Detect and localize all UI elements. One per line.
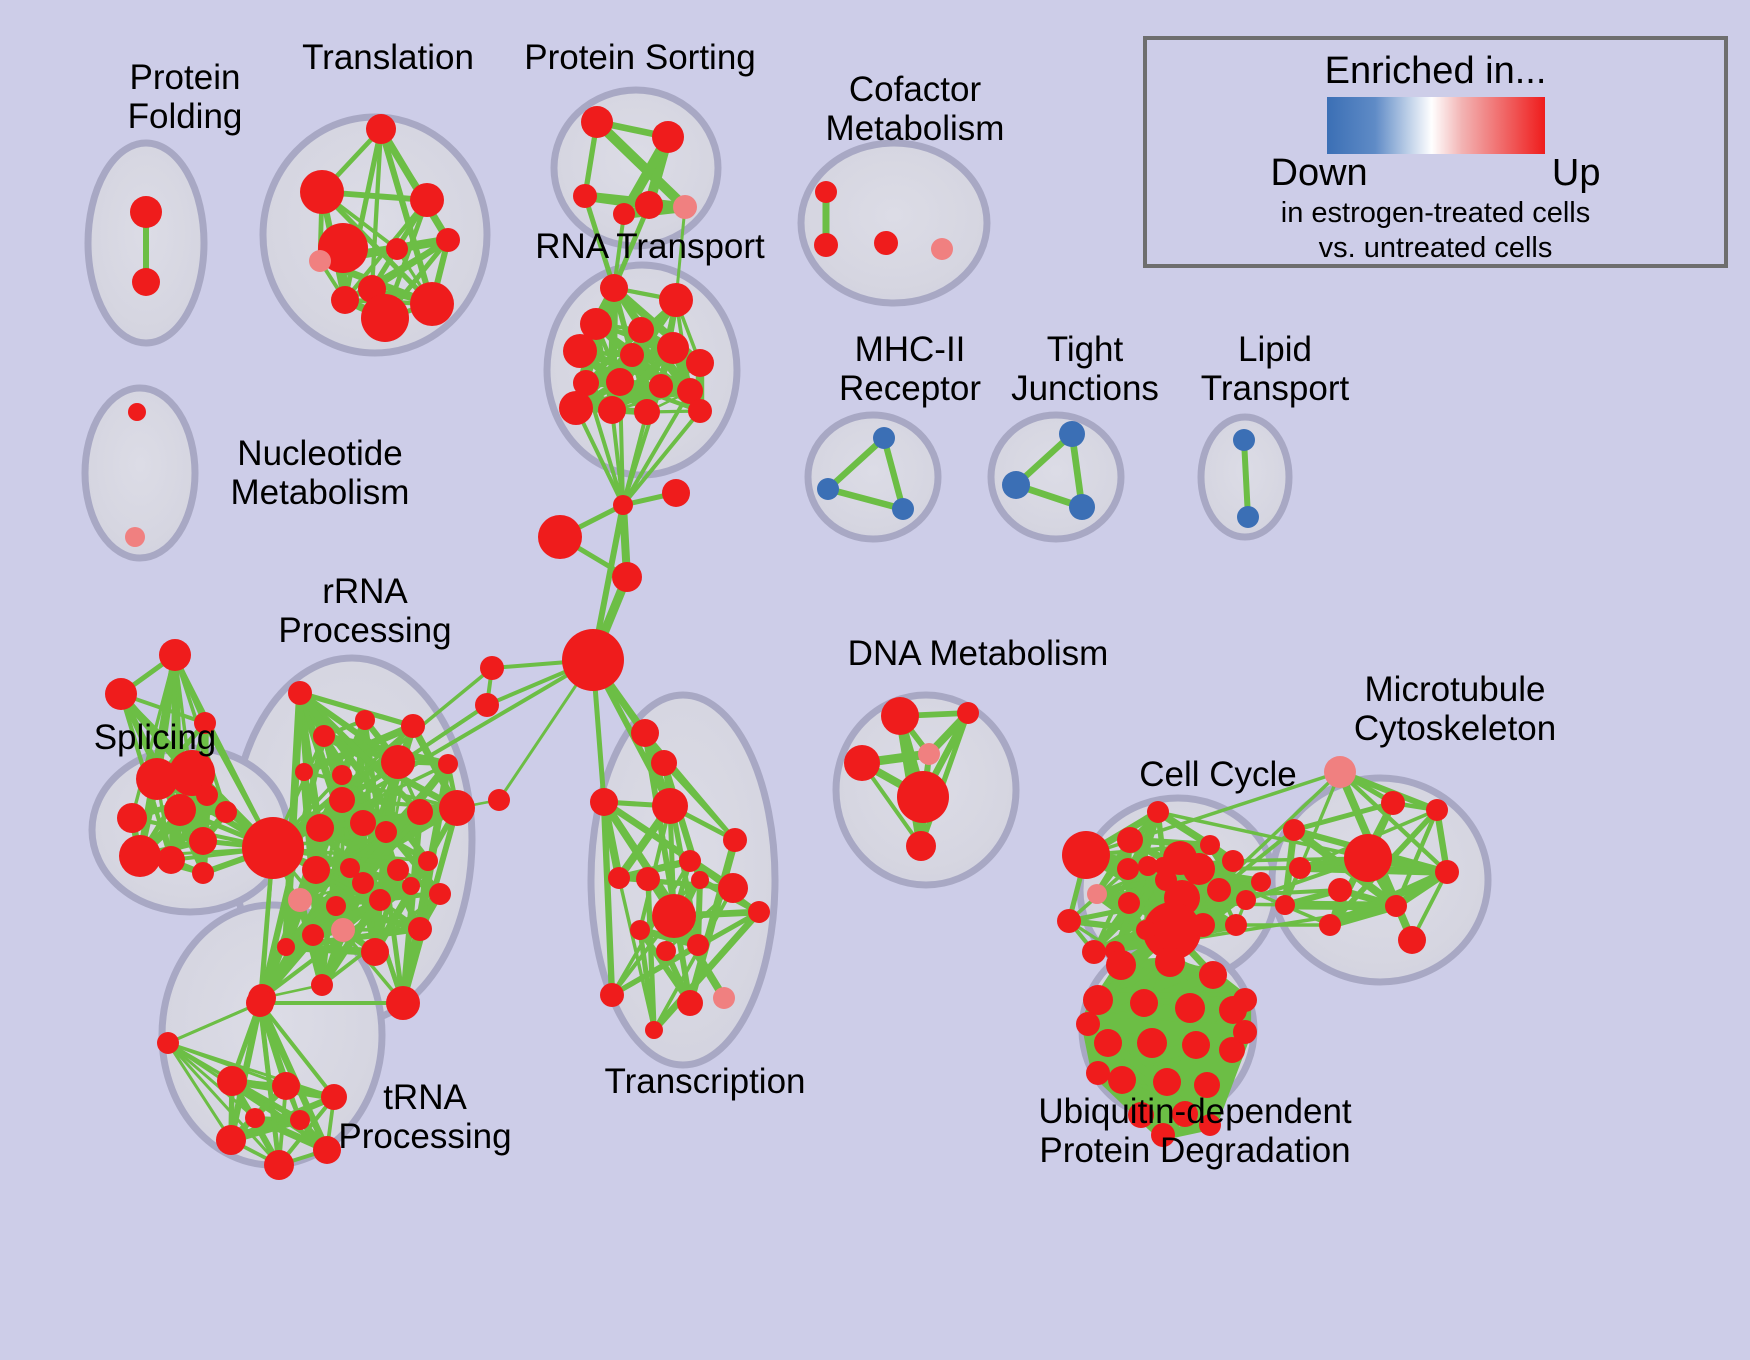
network-node[interactable] xyxy=(366,114,396,144)
network-node[interactable] xyxy=(119,835,161,877)
network-node[interactable] xyxy=(1199,961,1227,989)
network-node[interactable] xyxy=(1094,1029,1122,1057)
network-node[interactable] xyxy=(1275,895,1295,915)
network-node[interactable] xyxy=(194,712,216,734)
legend-caption-line1: in estrogen-treated cells xyxy=(1281,197,1591,229)
network-node[interactable] xyxy=(713,987,735,1009)
cluster-ellipse-protein-sorting xyxy=(554,90,718,246)
network-node[interactable] xyxy=(1128,1102,1154,1128)
network-node[interactable] xyxy=(1087,884,1107,904)
network-node[interactable] xyxy=(652,894,696,938)
network-node[interactable] xyxy=(125,527,145,547)
network-node[interactable] xyxy=(130,196,162,228)
network-node[interactable] xyxy=(649,374,673,398)
network-node[interactable] xyxy=(957,702,979,724)
network-node[interactable] xyxy=(600,983,624,1007)
network-node[interactable] xyxy=(326,896,346,916)
network-node[interactable] xyxy=(918,743,940,765)
legend-title: Enriched in... xyxy=(1325,50,1547,93)
network-node[interactable] xyxy=(1385,895,1407,917)
network-node[interactable] xyxy=(1069,494,1095,520)
network-node[interactable] xyxy=(1398,926,1426,954)
network-node[interactable] xyxy=(309,250,331,272)
network-node[interactable] xyxy=(1233,988,1257,1012)
network-node[interactable] xyxy=(636,867,660,891)
network-node[interactable] xyxy=(429,883,451,905)
network-node[interactable] xyxy=(306,814,334,842)
network-node[interactable] xyxy=(1130,989,1158,1017)
network-node[interactable] xyxy=(242,817,304,879)
network-node[interactable] xyxy=(630,920,650,940)
network-node[interactable] xyxy=(686,349,714,377)
network-node[interactable] xyxy=(300,170,344,214)
network-node[interactable] xyxy=(1236,890,1256,910)
network-node[interactable] xyxy=(381,745,415,779)
network-node[interactable] xyxy=(1183,853,1215,885)
network-node[interactable] xyxy=(906,831,936,861)
network-node[interactable] xyxy=(897,771,949,823)
network-node[interactable] xyxy=(656,941,676,961)
network-node[interactable] xyxy=(562,629,624,691)
network-node[interactable] xyxy=(815,181,837,203)
network-node[interactable] xyxy=(1076,1012,1100,1036)
network-node[interactable] xyxy=(277,938,295,956)
network-node[interactable] xyxy=(302,924,324,946)
network-node[interactable] xyxy=(105,678,137,710)
network-node[interactable] xyxy=(688,399,712,423)
network-node[interactable] xyxy=(892,498,914,520)
cluster-ellipse-mhc-ii-receptor xyxy=(808,415,938,539)
network-node[interactable] xyxy=(563,334,597,368)
network-node[interactable] xyxy=(613,495,633,515)
network-node[interactable] xyxy=(628,317,654,343)
network-node[interactable] xyxy=(645,1021,663,1039)
network-node[interactable] xyxy=(931,238,953,260)
network-node[interactable] xyxy=(475,693,499,717)
network-node[interactable] xyxy=(418,851,438,871)
network-node[interactable] xyxy=(679,850,701,872)
network-figure: Protein FoldingTranslationProtein Sortin… xyxy=(0,0,1750,1360)
network-node[interactable] xyxy=(436,228,460,252)
network-node[interactable] xyxy=(598,396,626,424)
network-node[interactable] xyxy=(1002,471,1030,499)
network-node[interactable] xyxy=(1108,1066,1136,1094)
network-node[interactable] xyxy=(439,790,475,826)
network-node[interactable] xyxy=(873,427,895,449)
edge xyxy=(1244,440,1248,517)
network-node[interactable] xyxy=(288,888,312,912)
network-node[interactable] xyxy=(1057,909,1081,933)
legend-caption-line2: vs. untreated cells xyxy=(1319,232,1553,264)
network-node[interactable] xyxy=(361,294,409,342)
network-node[interactable] xyxy=(817,478,839,500)
network-node[interactable] xyxy=(652,788,688,824)
network-node[interactable] xyxy=(1118,892,1140,914)
network-node[interactable] xyxy=(1237,506,1259,528)
legend-high-label: Up xyxy=(1552,152,1601,195)
legend-low-label: Down xyxy=(1271,152,1368,195)
network-node[interactable] xyxy=(635,191,663,219)
network-node[interactable] xyxy=(164,794,196,826)
network-node[interactable] xyxy=(313,725,335,747)
network-node[interactable] xyxy=(1381,791,1405,815)
network-node[interactable] xyxy=(329,787,355,813)
network-node[interactable] xyxy=(402,877,420,895)
network-node[interactable] xyxy=(401,714,425,738)
network-node[interactable] xyxy=(634,399,660,425)
network-node[interactable] xyxy=(673,195,697,219)
network-node[interactable] xyxy=(723,828,747,852)
network-node[interactable] xyxy=(1191,913,1215,937)
network-node[interactable] xyxy=(157,846,185,874)
network-node[interactable] xyxy=(246,989,274,1017)
network-node[interactable] xyxy=(657,332,689,364)
network-node[interactable] xyxy=(659,283,693,317)
network-node[interactable] xyxy=(488,789,510,811)
network-node[interactable] xyxy=(1199,1114,1221,1136)
network-node[interactable] xyxy=(612,562,642,592)
network-node[interactable] xyxy=(216,1125,246,1155)
network-node[interactable] xyxy=(606,368,634,396)
network-node[interactable] xyxy=(651,750,677,776)
network-node[interactable] xyxy=(652,121,684,153)
network-node[interactable] xyxy=(1233,1020,1257,1044)
network-node[interactable] xyxy=(159,639,191,671)
network-node[interactable] xyxy=(340,858,360,878)
network-node[interactable] xyxy=(1324,756,1356,788)
network-node[interactable] xyxy=(410,183,444,217)
network-node[interactable] xyxy=(620,343,644,367)
network-node[interactable] xyxy=(375,821,397,843)
network-node[interactable] xyxy=(1153,1068,1181,1096)
network-node[interactable] xyxy=(608,867,630,889)
network-node[interactable] xyxy=(814,233,838,257)
network-node[interactable] xyxy=(1138,856,1158,876)
network-node[interactable] xyxy=(410,282,454,326)
network-node[interactable] xyxy=(128,403,146,421)
network-node[interactable] xyxy=(408,917,432,941)
network-node[interactable] xyxy=(1086,1061,1110,1085)
network-node[interactable] xyxy=(272,1072,300,1100)
network-node[interactable] xyxy=(1233,429,1255,451)
network-node[interactable] xyxy=(1251,872,1271,892)
legend-gradient-bar xyxy=(1327,97,1545,154)
network-node[interactable] xyxy=(369,889,391,911)
network-node[interactable] xyxy=(350,810,376,836)
network-node[interactable] xyxy=(1225,914,1247,936)
network-node[interactable] xyxy=(196,784,218,806)
network-node[interactable] xyxy=(217,1066,247,1096)
network-node[interactable] xyxy=(1194,1072,1220,1098)
network-node[interactable] xyxy=(288,681,312,705)
network-node[interactable] xyxy=(590,788,618,816)
network-node[interactable] xyxy=(559,391,593,425)
network-node[interactable] xyxy=(1059,421,1085,447)
network-node[interactable] xyxy=(1082,940,1106,964)
network-node[interactable] xyxy=(1426,799,1448,821)
network-node[interactable] xyxy=(189,827,217,855)
network-node[interactable] xyxy=(677,990,703,1016)
network-node[interactable] xyxy=(1283,819,1305,841)
network-node[interactable] xyxy=(1289,857,1311,879)
network-node[interactable] xyxy=(631,719,659,747)
network-node[interactable] xyxy=(1147,801,1169,823)
network-node[interactable] xyxy=(573,184,597,208)
network-node[interactable] xyxy=(117,803,147,833)
network-node[interactable] xyxy=(386,238,408,260)
network-node[interactable] xyxy=(480,656,504,680)
network-node[interactable] xyxy=(1328,878,1352,902)
network-node[interactable] xyxy=(1083,985,1113,1015)
network-node[interactable] xyxy=(691,871,709,889)
network-node[interactable] xyxy=(1136,920,1156,940)
network-node[interactable] xyxy=(1117,827,1143,853)
network-node[interactable] xyxy=(662,479,690,507)
network-node[interactable] xyxy=(302,856,330,884)
network-node[interactable] xyxy=(1200,835,1220,855)
network-node[interactable] xyxy=(311,974,333,996)
network-node[interactable] xyxy=(538,515,582,559)
network-node[interactable] xyxy=(874,231,898,255)
network-node[interactable] xyxy=(295,763,313,781)
network-node[interactable] xyxy=(361,938,389,966)
network-node[interactable] xyxy=(687,934,709,956)
network-node[interactable] xyxy=(1344,834,1392,882)
network-node[interactable] xyxy=(1222,850,1244,872)
network-node[interactable] xyxy=(332,765,352,785)
network-node[interactable] xyxy=(1151,1123,1175,1147)
network-node[interactable] xyxy=(881,697,919,735)
network-node[interactable] xyxy=(1117,858,1139,880)
network-node[interactable] xyxy=(132,268,160,296)
network-node[interactable] xyxy=(331,918,355,942)
network-node[interactable] xyxy=(1155,947,1185,977)
network-node[interactable] xyxy=(215,801,237,823)
network-node[interactable] xyxy=(438,754,458,774)
network-node[interactable] xyxy=(1175,993,1205,1023)
network-node[interactable] xyxy=(407,799,433,825)
network-node[interactable] xyxy=(1182,1031,1210,1059)
network-node[interactable] xyxy=(1106,950,1136,980)
network-node[interactable] xyxy=(290,1110,310,1130)
network-node[interactable] xyxy=(1207,878,1231,902)
network-node[interactable] xyxy=(245,1108,265,1128)
network-node[interactable] xyxy=(355,710,375,730)
network-node[interactable] xyxy=(157,1032,179,1054)
network-node[interactable] xyxy=(1137,1028,1167,1058)
network-node[interactable] xyxy=(192,862,214,884)
network-node[interactable] xyxy=(387,859,409,881)
network-node[interactable] xyxy=(1435,860,1459,884)
network-node[interactable] xyxy=(386,986,420,1020)
network-node[interactable] xyxy=(600,274,628,302)
network-node[interactable] xyxy=(321,1084,347,1110)
network-node[interactable] xyxy=(718,873,748,903)
network-node[interactable] xyxy=(331,286,359,314)
network-node[interactable] xyxy=(613,203,635,225)
network-node[interactable] xyxy=(1062,831,1110,879)
network-node[interactable] xyxy=(264,1150,294,1180)
network-node[interactable] xyxy=(748,901,770,923)
network-node[interactable] xyxy=(1172,1101,1198,1127)
network-node[interactable] xyxy=(844,745,880,781)
network-node[interactable] xyxy=(1319,914,1341,936)
legend-panel: Enriched in... Down Up in estrogen-treat… xyxy=(1143,36,1728,268)
network-node[interactable] xyxy=(313,1136,341,1164)
network-node[interactable] xyxy=(581,106,613,138)
